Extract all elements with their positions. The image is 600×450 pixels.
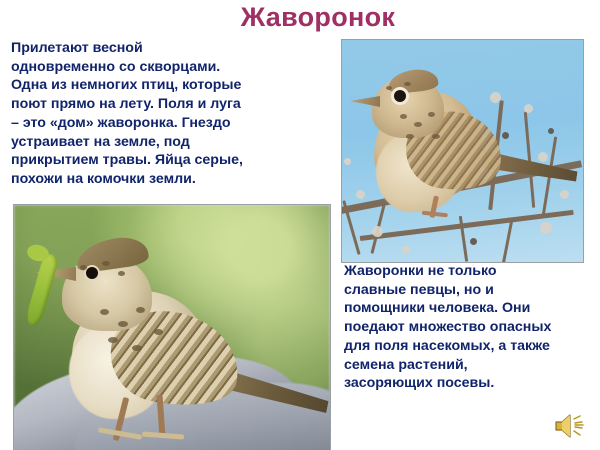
bird-speckle [118,321,128,327]
bird-speckle [136,307,145,313]
bud-5 [548,128,554,134]
bird-eye [86,267,98,279]
bud-2 [502,132,509,139]
bud-3 [524,104,533,113]
bud-12 [344,158,351,165]
bird-speckle [118,271,125,276]
lark-caterpillar-scene [14,205,330,450]
bird-speckle [102,261,110,266]
bud-9 [470,238,477,245]
lark-branch-scene [342,40,583,262]
lark-with-caterpillar-photo [13,204,331,450]
bud-7 [372,226,383,237]
page-title: Жаворонок [0,2,600,32]
bud-10 [560,190,569,199]
lark-on-branch-photo [341,39,584,263]
bird-speckle [386,86,392,90]
bird-speckle [100,309,109,315]
bird-speckle [108,337,118,343]
bird-speckle [80,265,87,270]
bud-11 [402,246,410,254]
bird-speckle [404,82,411,86]
presentation-slide: Жаворонок Прилетают весной одновременно … [0,0,600,450]
bird-speckle [400,114,407,119]
bird-speckle [406,134,414,139]
sound-speaker-icon[interactable] [553,412,587,440]
bird-speckle [154,329,163,335]
bird-speckle [414,122,422,127]
bud-8 [540,222,552,234]
bud-6 [356,190,365,199]
bud-4 [538,152,548,162]
description-paragraph-left: Прилетают весной одновременно со скворца… [11,39,331,189]
bud-1 [490,92,501,103]
bird-speckle [132,345,142,351]
bird-eye [394,90,406,102]
description-paragraph-right: Жаворонки не только славные певцы, но и … [344,262,596,393]
bird-speckle [428,112,435,117]
bird-speckle [432,134,440,139]
